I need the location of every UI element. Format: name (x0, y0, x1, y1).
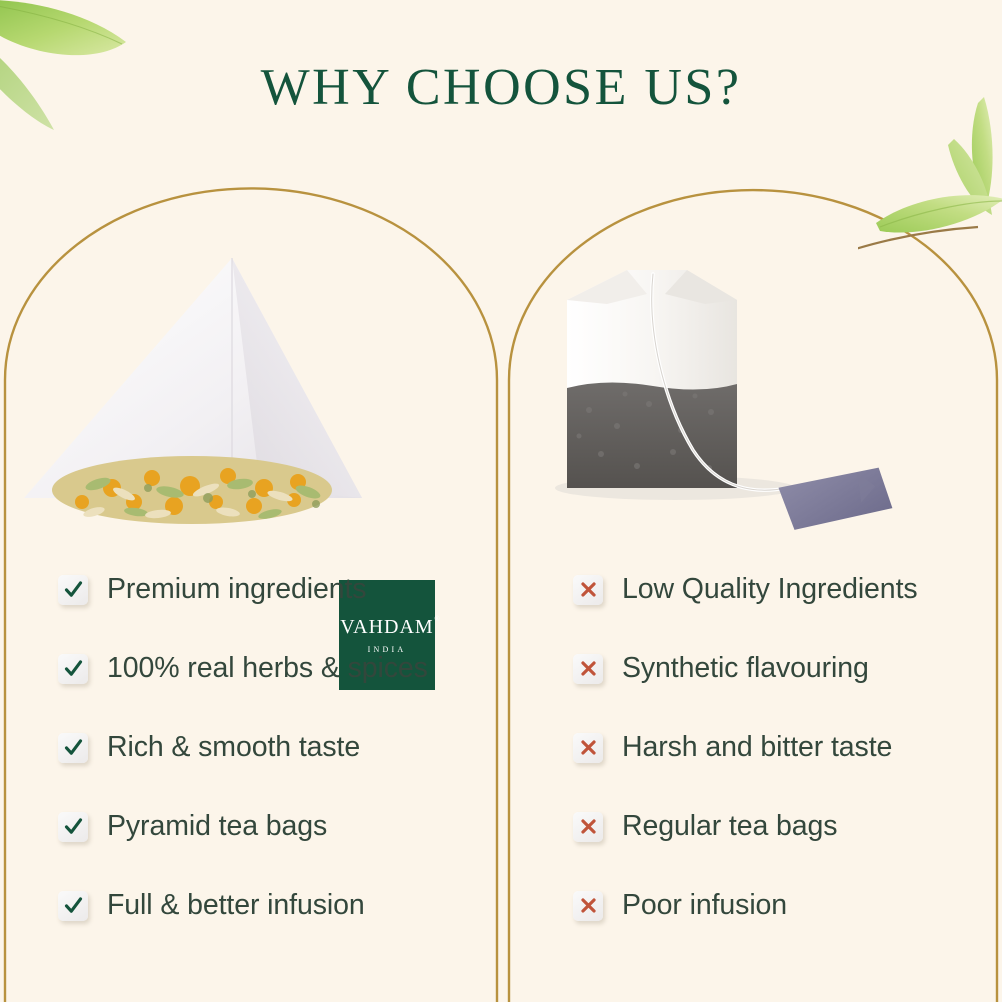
feature-label: Synthetic flavouring (622, 652, 869, 685)
feature-row: Synthetic flavouring (573, 629, 1002, 708)
feature-row: Pyramid tea bags (58, 787, 518, 866)
feature-row: Rich & smooth taste (58, 708, 518, 787)
feature-label: Rich & smooth taste (107, 731, 360, 764)
check-icon (58, 575, 88, 605)
feature-row: Premium ingredients (58, 550, 518, 629)
pyramid-tea-bag-image (2, 240, 497, 530)
page-title: WHY CHOOSE US? (0, 62, 1002, 114)
check-icon (58, 654, 88, 684)
cross-icon (573, 733, 603, 763)
check-icon (58, 812, 88, 842)
feature-label: Full & better infusion (107, 889, 365, 922)
panel-competitor: Low Quality Ingredients Synthetic flavou… (505, 180, 1000, 1002)
cross-icon (573, 812, 603, 842)
cross-icon (573, 891, 603, 921)
feature-label: 100% real herbs & spices (107, 652, 428, 685)
feature-label: Premium ingredients (107, 573, 366, 606)
check-icon (58, 733, 88, 763)
feature-list-vahdam: Premium ingredients 100% real herbs & sp… (58, 550, 518, 945)
feature-label: Harsh and bitter taste (622, 731, 892, 764)
feature-label: Pyramid tea bags (107, 810, 327, 843)
feature-label: Poor infusion (622, 889, 787, 922)
feature-row: Harsh and bitter taste (573, 708, 1002, 787)
feature-row: Low Quality Ingredients (573, 550, 1002, 629)
panel-vahdam: VAHDAM® INDIA Premium ingredients 100% r… (2, 180, 497, 1002)
why-choose-us-infographic: WHY CHOOSE US? (0, 0, 1002, 1002)
feature-label: Regular tea bags (622, 810, 837, 843)
feature-row: Regular tea bags (573, 787, 1002, 866)
feature-row: 100% real herbs & spices (58, 629, 518, 708)
check-icon (58, 891, 88, 921)
feature-label: Low Quality Ingredients (622, 573, 918, 606)
cross-icon (573, 654, 603, 684)
regular-tea-bag-image (505, 240, 1000, 530)
cross-icon (573, 575, 603, 605)
feature-row: Full & better infusion (58, 866, 518, 945)
feature-list-competitor: Low Quality Ingredients Synthetic flavou… (573, 550, 1002, 945)
feature-row: Poor infusion (573, 866, 1002, 945)
